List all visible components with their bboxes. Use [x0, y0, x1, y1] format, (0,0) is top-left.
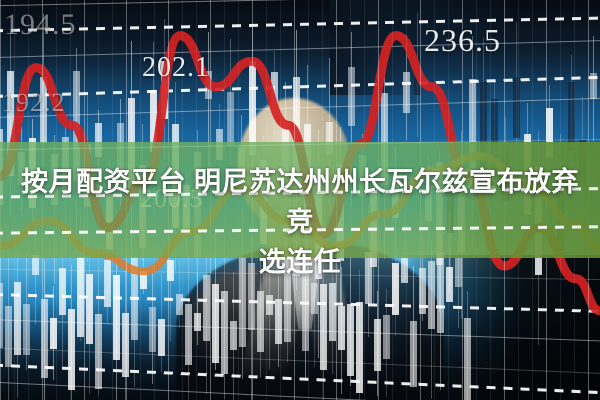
- headline-line-2: 选连任: [259, 247, 342, 277]
- headline-line-1: 按月配资平台 明尼苏达州州长瓦尔兹宣布放弃竞: [21, 167, 579, 237]
- headline-text: 按月配资平台 明尼苏达州州长瓦尔兹宣布放弃竞 选连任: [0, 162, 600, 282]
- grid-line: [0, 138, 600, 151]
- news-banner-image: 194.5192.2202.1236.5 200.5239.2 按月配资平台 明…: [0, 0, 600, 400]
